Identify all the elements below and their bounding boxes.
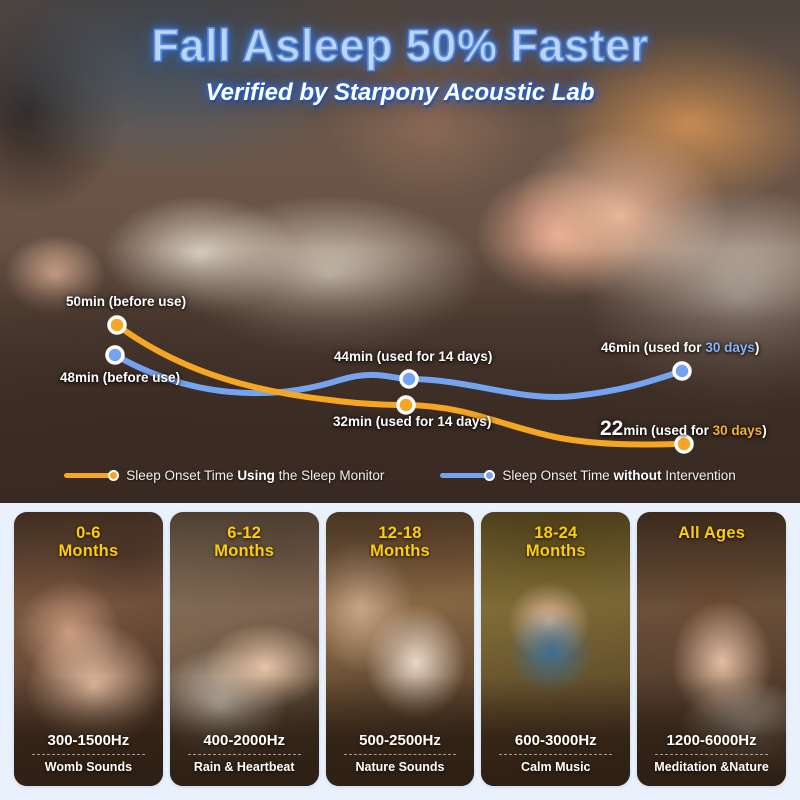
- card-footer: 1200-6000Hz Meditation &Nature: [637, 732, 786, 774]
- data-point-gold-mid: [398, 397, 414, 413]
- card-frequency-range: 1200-6000Hz: [643, 732, 780, 749]
- card-footer: 500-2500Hz Nature Sounds: [326, 732, 475, 774]
- age-card-6-12-months[interactable]: 6-12 Months 400-2000Hz Rain & Heartbeat: [170, 512, 319, 786]
- card-divider: [499, 754, 612, 755]
- age-card-18-24-months[interactable]: 18-24 Months 600-3000Hz Calm Music: [481, 512, 630, 786]
- legend-item-without-intervention[interactable]: Sleep Onset Time without Intervention: [440, 468, 735, 483]
- card-age-line1: 0-6: [14, 524, 163, 542]
- label-blue-mid: 44min (used for 14 days): [334, 349, 492, 364]
- card-sound-name: Rain & Heartbeat: [176, 760, 313, 774]
- card-frequency-range: 300-1500Hz: [20, 732, 157, 749]
- age-card-all-ages[interactable]: All Ages 1200-6000Hz Meditation &Nature: [637, 512, 786, 786]
- card-sound-name: Nature Sounds: [332, 760, 469, 774]
- card-frequency-range: 600-3000Hz: [487, 732, 624, 749]
- card-age-line2: Months: [14, 542, 163, 560]
- label-gold-mid: 32min (used for 14 days): [333, 414, 491, 429]
- card-age-label: 6-12 Months: [170, 524, 319, 561]
- legend-swatch-gold: [64, 473, 112, 478]
- age-range-card-grid: 0-6 Months 300-1500Hz Womb Sounds 6-12 M…: [0, 503, 800, 800]
- card-age-line2: Months: [326, 542, 475, 560]
- card-age-label: 12-18 Months: [326, 524, 475, 561]
- card-divider: [344, 754, 457, 755]
- card-footer: 600-3000Hz Calm Music: [481, 732, 630, 774]
- page-title: Fall Asleep 50% Faster: [0, 20, 800, 72]
- card-age-line2: Months: [170, 542, 319, 560]
- card-divider: [655, 754, 768, 755]
- data-point-blue-start: [107, 347, 123, 363]
- card-frequency-range: 500-2500Hz: [332, 732, 469, 749]
- card-age-label: 0-6 Months: [14, 524, 163, 561]
- card-age-line1: 18-24: [481, 524, 630, 542]
- legend-swatch-blue: [440, 473, 488, 478]
- period-highlight-blue: 30 days: [705, 340, 755, 355]
- card-age-line2: Months: [481, 542, 630, 560]
- card-sound-name: Meditation &Nature: [643, 760, 780, 774]
- data-point-gold-start: [109, 317, 125, 333]
- headline-block: Fall Asleep 50% Faster Verified by Starp…: [0, 20, 800, 107]
- card-footer: 400-2000Hz Rain & Heartbeat: [170, 732, 319, 774]
- label-gold-start: 50min (before use): [66, 294, 186, 309]
- data-point-blue-end: [674, 363, 690, 379]
- card-age-line1: 12-18: [326, 524, 475, 542]
- legend-label-using-monitor: Sleep Onset Time Using the Sleep Monitor: [126, 468, 384, 483]
- data-point-blue-mid: [401, 371, 417, 387]
- age-card-12-18-months[interactable]: 12-18 Months 500-2500Hz Nature Sounds: [326, 512, 475, 786]
- card-frequency-range: 400-2000Hz: [176, 732, 313, 749]
- card-footer: 300-1500Hz Womb Sounds: [14, 732, 163, 774]
- legend-item-using-monitor[interactable]: Sleep Onset Time Using the Sleep Monitor: [64, 468, 384, 483]
- page-subtitle: Verified by Starpony Acoustic Lab: [0, 79, 800, 107]
- legend-dot-blue: [484, 470, 495, 481]
- card-age-label: 18-24 Months: [481, 524, 630, 561]
- card-sound-name: Calm Music: [487, 760, 624, 774]
- card-divider: [32, 754, 145, 755]
- card-divider: [188, 754, 301, 755]
- label-gold-end: 22min (used for 30 days): [600, 417, 767, 441]
- age-card-0-6-months[interactable]: 0-6 Months 300-1500Hz Womb Sounds: [14, 512, 163, 786]
- label-blue-end: 46min (used for 30 days): [601, 340, 759, 355]
- card-sound-name: Womb Sounds: [20, 760, 157, 774]
- card-age-line1: All Ages: [637, 524, 786, 542]
- label-blue-start: 48min (before use): [60, 370, 180, 385]
- legend-dot-gold: [108, 470, 119, 481]
- card-age-line1: 6-12: [170, 524, 319, 542]
- period-highlight-gold: 30 days: [713, 423, 763, 438]
- legend-label-without-intervention: Sleep Onset Time without Intervention: [502, 468, 735, 483]
- card-age-label: All Ages: [637, 524, 786, 542]
- chart-legend: Sleep Onset Time Using the Sleep Monitor…: [0, 468, 800, 483]
